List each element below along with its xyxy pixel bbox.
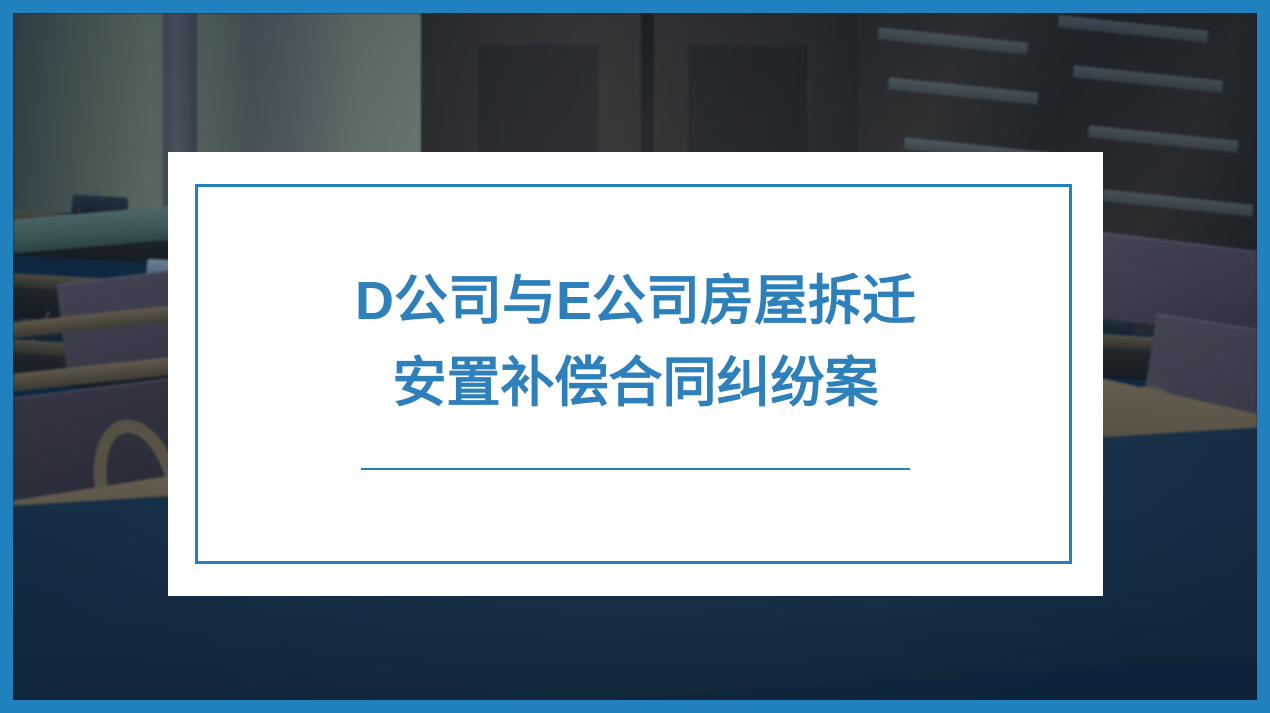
card-inner-frame bbox=[195, 184, 1072, 564]
title-divider bbox=[361, 468, 910, 470]
title-slide: D公司与E公司房屋拆迁 安置补偿合同纠纷案 bbox=[0, 0, 1270, 713]
title-card: D公司与E公司房屋拆迁 安置补偿合同纠纷案 bbox=[168, 152, 1103, 596]
